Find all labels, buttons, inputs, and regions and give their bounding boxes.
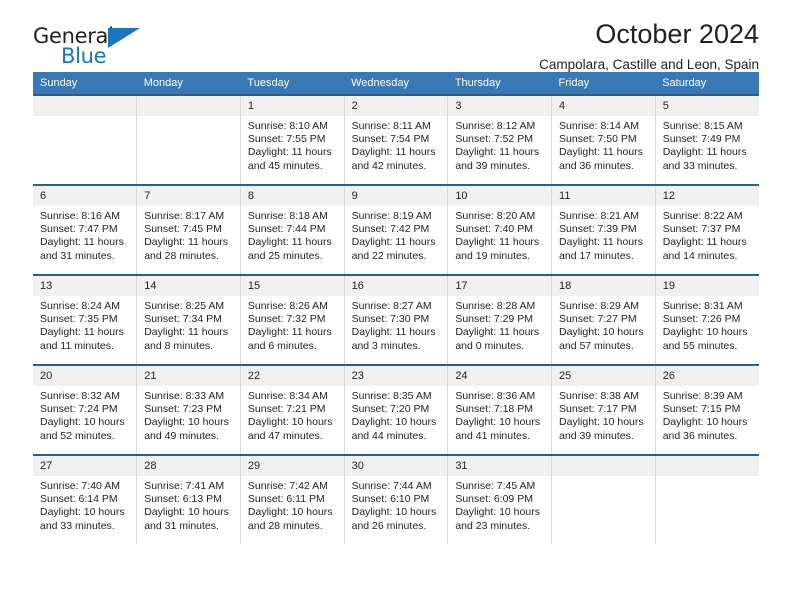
- calendar-week-row: 6Sunrise: 8:16 AMSunset: 7:47 PMDaylight…: [33, 185, 759, 275]
- day-number: 31: [448, 456, 551, 476]
- day-cell-inner: 4Sunrise: 8:14 AMSunset: 7:50 PMDaylight…: [552, 96, 655, 184]
- sunrise-time: Sunrise: 7:44 AM: [352, 480, 442, 493]
- sunset-time: Sunset: 7:40 PM: [455, 223, 545, 236]
- day-number: 9: [345, 186, 448, 206]
- calendar-day-cell[interactable]: 11Sunrise: 8:21 AMSunset: 7:39 PMDayligh…: [552, 185, 656, 275]
- sunset-time: Sunset: 7:50 PM: [559, 133, 649, 146]
- daylight-duration-line1: Daylight: 10 hours: [40, 506, 130, 519]
- sunset-time: Sunset: 6:10 PM: [352, 493, 442, 506]
- weekday-header-thursday: Thursday: [448, 72, 552, 95]
- day-cell-inner: 3Sunrise: 8:12 AMSunset: 7:52 PMDaylight…: [448, 96, 551, 184]
- sunset-time: Sunset: 7:37 PM: [663, 223, 753, 236]
- daylight-duration-line2: and 17 minutes.: [559, 250, 649, 263]
- day-cell-inner: 19Sunrise: 8:31 AMSunset: 7:26 PMDayligh…: [656, 276, 759, 364]
- daylight-duration-line2: and 25 minutes.: [248, 250, 338, 263]
- weekday-header-monday: Monday: [137, 72, 241, 95]
- day-cell-inner: 7Sunrise: 8:17 AMSunset: 7:45 PMDaylight…: [137, 186, 240, 274]
- daylight-duration-line2: and 39 minutes.: [455, 160, 545, 173]
- day-cell-inner: 31Sunrise: 7:45 AMSunset: 6:09 PMDayligh…: [448, 456, 551, 544]
- calendar-day-cell-empty: [552, 455, 656, 544]
- daylight-duration-line1: Daylight: 10 hours: [248, 506, 338, 519]
- day-number: 5: [656, 96, 759, 116]
- sunset-time: Sunset: 6:14 PM: [40, 493, 130, 506]
- daylight-duration-line2: and 47 minutes.: [248, 430, 338, 443]
- day-details: Sunrise: 8:22 AMSunset: 7:37 PMDaylight:…: [656, 206, 759, 263]
- daylight-duration-line2: and 8 minutes.: [144, 340, 234, 353]
- daylight-duration-line1: Daylight: 10 hours: [144, 416, 234, 429]
- day-details: Sunrise: 8:27 AMSunset: 7:30 PMDaylight:…: [345, 296, 448, 353]
- sunrise-time: Sunrise: 8:33 AM: [144, 390, 234, 403]
- calendar-day-cell[interactable]: 22Sunrise: 8:34 AMSunset: 7:21 PMDayligh…: [240, 365, 344, 455]
- day-details: Sunrise: 7:40 AMSunset: 6:14 PMDaylight:…: [33, 476, 136, 533]
- calendar-day-cell[interactable]: 19Sunrise: 8:31 AMSunset: 7:26 PMDayligh…: [655, 275, 759, 365]
- sunset-time: Sunset: 7:39 PM: [559, 223, 649, 236]
- day-number: 20: [33, 366, 136, 386]
- month-calendar: Sunday Monday Tuesday Wednesday Thursday…: [33, 72, 759, 544]
- day-cell-inner: 16Sunrise: 8:27 AMSunset: 7:30 PMDayligh…: [345, 276, 448, 364]
- day-number: 27: [33, 456, 136, 476]
- sunrise-time: Sunrise: 8:29 AM: [559, 300, 649, 313]
- sunset-time: Sunset: 7:45 PM: [144, 223, 234, 236]
- daylight-duration-line2: and 39 minutes.: [559, 430, 649, 443]
- daylight-duration-line1: Daylight: 10 hours: [663, 416, 753, 429]
- sunrise-time: Sunrise: 8:19 AM: [352, 210, 442, 223]
- day-details: Sunrise: 8:15 AMSunset: 7:49 PMDaylight:…: [656, 116, 759, 173]
- day-details: Sunrise: 8:31 AMSunset: 7:26 PMDaylight:…: [656, 296, 759, 353]
- day-details: Sunrise: 8:38 AMSunset: 7:17 PMDaylight:…: [552, 386, 655, 443]
- daylight-duration-line1: Daylight: 11 hours: [352, 326, 442, 339]
- daylight-duration-line2: and 57 minutes.: [559, 340, 649, 353]
- general-blue-logo: General Blue: [33, 24, 153, 70]
- day-number: 26: [656, 366, 759, 386]
- day-details: Sunrise: 8:10 AMSunset: 7:55 PMDaylight:…: [241, 116, 344, 173]
- day-cell-inner: 28Sunrise: 7:41 AMSunset: 6:13 PMDayligh…: [137, 456, 240, 544]
- daylight-duration-line1: Daylight: 10 hours: [144, 506, 234, 519]
- day-cell-inner: 13Sunrise: 8:24 AMSunset: 7:35 PMDayligh…: [33, 276, 136, 364]
- day-cell-inner: 10Sunrise: 8:20 AMSunset: 7:40 PMDayligh…: [448, 186, 551, 274]
- sunset-time: Sunset: 7:24 PM: [40, 403, 130, 416]
- weekday-header-tuesday: Tuesday: [240, 72, 344, 95]
- day-details: Sunrise: 8:12 AMSunset: 7:52 PMDaylight:…: [448, 116, 551, 173]
- calendar-day-cell[interactable]: 20Sunrise: 8:32 AMSunset: 7:24 PMDayligh…: [33, 365, 137, 455]
- page-header: General Blue October 2024 Campolara, Cas…: [33, 0, 759, 72]
- daylight-duration-line1: Daylight: 11 hours: [248, 146, 338, 159]
- daylight-duration-line1: Daylight: 11 hours: [40, 236, 130, 249]
- calendar-day-cell[interactable]: 15Sunrise: 8:26 AMSunset: 7:32 PMDayligh…: [240, 275, 344, 365]
- daylight-duration-line2: and 36 minutes.: [663, 430, 753, 443]
- daylight-duration-line2: and 31 minutes.: [144, 520, 234, 533]
- sunrise-time: Sunrise: 8:16 AM: [40, 210, 130, 223]
- sunrise-time: Sunrise: 8:24 AM: [40, 300, 130, 313]
- sunrise-time: Sunrise: 8:39 AM: [663, 390, 753, 403]
- sunrise-time: Sunrise: 7:40 AM: [40, 480, 130, 493]
- calendar-day-cell[interactable]: 5Sunrise: 8:15 AMSunset: 7:49 PMDaylight…: [655, 95, 759, 185]
- calendar-day-cell[interactable]: 6Sunrise: 8:16 AMSunset: 7:47 PMDaylight…: [33, 185, 137, 275]
- calendar-day-cell[interactable]: 26Sunrise: 8:39 AMSunset: 7:15 PMDayligh…: [655, 365, 759, 455]
- calendar-header-row: Sunday Monday Tuesday Wednesday Thursday…: [33, 72, 759, 95]
- day-details: Sunrise: 8:33 AMSunset: 7:23 PMDaylight:…: [137, 386, 240, 443]
- daylight-duration-line2: and 55 minutes.: [663, 340, 753, 353]
- daylight-duration-line1: Daylight: 11 hours: [455, 146, 545, 159]
- daylight-duration-line1: Daylight: 11 hours: [559, 146, 649, 159]
- day-details: Sunrise: 8:25 AMSunset: 7:34 PMDaylight:…: [137, 296, 240, 353]
- calendar-day-cell[interactable]: 16Sunrise: 8:27 AMSunset: 7:30 PMDayligh…: [344, 275, 448, 365]
- calendar-day-cell[interactable]: 2Sunrise: 8:11 AMSunset: 7:54 PMDaylight…: [344, 95, 448, 185]
- daylight-duration-line1: Daylight: 11 hours: [352, 146, 442, 159]
- day-cell-inner: 18Sunrise: 8:29 AMSunset: 7:27 PMDayligh…: [552, 276, 655, 364]
- daylight-duration-line1: Daylight: 10 hours: [352, 506, 442, 519]
- calendar-day-cell[interactable]: 12Sunrise: 8:22 AMSunset: 7:37 PMDayligh…: [655, 185, 759, 275]
- day-details: Sunrise: 7:45 AMSunset: 6:09 PMDaylight:…: [448, 476, 551, 533]
- title-block: October 2024 Campolara, Castille and Leo…: [539, 18, 759, 75]
- sunrise-time: Sunrise: 8:22 AM: [663, 210, 753, 223]
- sunset-time: Sunset: 7:29 PM: [455, 313, 545, 326]
- day-details: [656, 476, 759, 480]
- sunset-time: Sunset: 7:32 PM: [248, 313, 338, 326]
- sunset-time: Sunset: 7:27 PM: [559, 313, 649, 326]
- daylight-duration-line1: Daylight: 10 hours: [352, 416, 442, 429]
- weekday-header-wednesday: Wednesday: [344, 72, 448, 95]
- day-number: 4: [552, 96, 655, 116]
- day-details: Sunrise: 8:14 AMSunset: 7:50 PMDaylight:…: [552, 116, 655, 173]
- sunset-time: Sunset: 7:47 PM: [40, 223, 130, 236]
- sunset-time: Sunset: 7:42 PM: [352, 223, 442, 236]
- daylight-duration-line2: and 28 minutes.: [144, 250, 234, 263]
- daylight-duration-line2: and 42 minutes.: [352, 160, 442, 173]
- calendar-day-cell[interactable]: 25Sunrise: 8:38 AMSunset: 7:17 PMDayligh…: [552, 365, 656, 455]
- daylight-duration-line1: Daylight: 10 hours: [455, 416, 545, 429]
- day-number: 16: [345, 276, 448, 296]
- calendar-body: 1Sunrise: 8:10 AMSunset: 7:55 PMDaylight…: [33, 95, 759, 544]
- daylight-duration-line1: Daylight: 11 hours: [663, 146, 753, 159]
- sunrise-time: Sunrise: 8:20 AM: [455, 210, 545, 223]
- day-cell-inner: 5Sunrise: 8:15 AMSunset: 7:49 PMDaylight…: [656, 96, 759, 184]
- sunset-time: Sunset: 6:11 PM: [248, 493, 338, 506]
- day-cell-inner: 15Sunrise: 8:26 AMSunset: 7:32 PMDayligh…: [241, 276, 344, 364]
- daylight-duration-line2: and 45 minutes.: [248, 160, 338, 173]
- day-number: 13: [33, 276, 136, 296]
- sunrise-time: Sunrise: 8:21 AM: [559, 210, 649, 223]
- day-number: 22: [241, 366, 344, 386]
- daylight-duration-line1: Daylight: 11 hours: [455, 326, 545, 339]
- day-details: Sunrise: 7:42 AMSunset: 6:11 PMDaylight:…: [241, 476, 344, 533]
- daylight-duration-line1: Daylight: 11 hours: [663, 236, 753, 249]
- calendar-day-cell[interactable]: 23Sunrise: 8:35 AMSunset: 7:20 PMDayligh…: [344, 365, 448, 455]
- sunset-time: Sunset: 7:54 PM: [352, 133, 442, 146]
- day-cell-inner: 24Sunrise: 8:36 AMSunset: 7:18 PMDayligh…: [448, 366, 551, 454]
- sunrise-time: Sunrise: 8:28 AM: [455, 300, 545, 313]
- day-number: 6: [33, 186, 136, 206]
- day-cell-inner: [552, 456, 655, 544]
- logo-text-blue: Blue: [61, 44, 106, 68]
- day-number: [552, 456, 655, 476]
- calendar-day-cell[interactable]: 10Sunrise: 8:20 AMSunset: 7:40 PMDayligh…: [448, 185, 552, 275]
- day-number: 19: [656, 276, 759, 296]
- daylight-duration-line2: and 41 minutes.: [455, 430, 545, 443]
- day-number: 7: [137, 186, 240, 206]
- daylight-duration-line2: and 33 minutes.: [663, 160, 753, 173]
- calendar-day-cell-empty: [33, 95, 137, 185]
- sunrise-time: Sunrise: 8:32 AM: [40, 390, 130, 403]
- calendar-day-cell[interactable]: 21Sunrise: 8:33 AMSunset: 7:23 PMDayligh…: [137, 365, 241, 455]
- weekday-header-sunday: Sunday: [33, 72, 137, 95]
- page-title: October 2024: [539, 18, 759, 50]
- day-number: 18: [552, 276, 655, 296]
- calendar-day-cell[interactable]: 31Sunrise: 7:45 AMSunset: 6:09 PMDayligh…: [448, 455, 552, 544]
- day-details: Sunrise: 8:18 AMSunset: 7:44 PMDaylight:…: [241, 206, 344, 263]
- sunrise-time: Sunrise: 8:34 AM: [248, 390, 338, 403]
- daylight-duration-line2: and 28 minutes.: [248, 520, 338, 533]
- day-details: [137, 116, 240, 120]
- daylight-duration-line2: and 23 minutes.: [455, 520, 545, 533]
- calendar-week-row: 27Sunrise: 7:40 AMSunset: 6:14 PMDayligh…: [33, 455, 759, 544]
- daylight-duration-line2: and 33 minutes.: [40, 520, 130, 533]
- calendar-week-row: 13Sunrise: 8:24 AMSunset: 7:35 PMDayligh…: [33, 275, 759, 365]
- day-number: 24: [448, 366, 551, 386]
- day-number: 10: [448, 186, 551, 206]
- day-details: Sunrise: 7:41 AMSunset: 6:13 PMDaylight:…: [137, 476, 240, 533]
- day-details: Sunrise: 8:28 AMSunset: 7:29 PMDaylight:…: [448, 296, 551, 353]
- calendar-day-cell-empty: [655, 455, 759, 544]
- day-cell-inner: 30Sunrise: 7:44 AMSunset: 6:10 PMDayligh…: [345, 456, 448, 544]
- day-cell-inner: 6Sunrise: 8:16 AMSunset: 7:47 PMDaylight…: [33, 186, 136, 274]
- sunrise-time: Sunrise: 8:18 AM: [248, 210, 338, 223]
- calendar-day-cell[interactable]: 8Sunrise: 8:18 AMSunset: 7:44 PMDaylight…: [240, 185, 344, 275]
- sunset-time: Sunset: 7:30 PM: [352, 313, 442, 326]
- daylight-duration-line1: Daylight: 11 hours: [40, 326, 130, 339]
- sunset-time: Sunset: 7:23 PM: [144, 403, 234, 416]
- sunrise-time: Sunrise: 8:14 AM: [559, 120, 649, 133]
- day-number: 29: [241, 456, 344, 476]
- day-cell-inner: 11Sunrise: 8:21 AMSunset: 7:39 PMDayligh…: [552, 186, 655, 274]
- sunset-time: Sunset: 7:20 PM: [352, 403, 442, 416]
- sunrise-time: Sunrise: 8:12 AM: [455, 120, 545, 133]
- calendar-day-cell[interactable]: 9Sunrise: 8:19 AMSunset: 7:42 PMDaylight…: [344, 185, 448, 275]
- daylight-duration-line1: Daylight: 10 hours: [40, 416, 130, 429]
- calendar-day-cell[interactable]: 7Sunrise: 8:17 AMSunset: 7:45 PMDaylight…: [137, 185, 241, 275]
- day-details: Sunrise: 8:17 AMSunset: 7:45 PMDaylight:…: [137, 206, 240, 263]
- day-details: Sunrise: 8:34 AMSunset: 7:21 PMDaylight:…: [241, 386, 344, 443]
- sunrise-time: Sunrise: 7:41 AM: [144, 480, 234, 493]
- daylight-duration-line1: Daylight: 11 hours: [559, 236, 649, 249]
- day-number: 17: [448, 276, 551, 296]
- sunrise-time: Sunrise: 8:10 AM: [248, 120, 338, 133]
- sunrise-time: Sunrise: 8:38 AM: [559, 390, 649, 403]
- daylight-duration-line2: and 11 minutes.: [40, 340, 130, 353]
- calendar-day-cell[interactable]: 1Sunrise: 8:10 AMSunset: 7:55 PMDaylight…: [240, 95, 344, 185]
- daylight-duration-line1: Daylight: 10 hours: [559, 416, 649, 429]
- sunset-time: Sunset: 7:26 PM: [663, 313, 753, 326]
- calendar-day-cell[interactable]: 30Sunrise: 7:44 AMSunset: 6:10 PMDayligh…: [344, 455, 448, 544]
- day-number: [33, 96, 136, 116]
- day-details: Sunrise: 8:35 AMSunset: 7:20 PMDaylight:…: [345, 386, 448, 443]
- day-details: Sunrise: 8:32 AMSunset: 7:24 PMDaylight:…: [33, 386, 136, 443]
- sunset-time: Sunset: 7:49 PM: [663, 133, 753, 146]
- day-number: 14: [137, 276, 240, 296]
- sunset-time: Sunset: 7:52 PM: [455, 133, 545, 146]
- sunset-time: Sunset: 7:17 PM: [559, 403, 649, 416]
- daylight-duration-line1: Daylight: 11 hours: [144, 326, 234, 339]
- daylight-duration-line1: Daylight: 11 hours: [352, 236, 442, 249]
- sunset-time: Sunset: 6:13 PM: [144, 493, 234, 506]
- weekday-header-friday: Friday: [552, 72, 656, 95]
- day-details: [552, 476, 655, 480]
- calendar-day-cell[interactable]: 27Sunrise: 7:40 AMSunset: 6:14 PMDayligh…: [33, 455, 137, 544]
- calendar-day-cell[interactable]: 28Sunrise: 7:41 AMSunset: 6:13 PMDayligh…: [137, 455, 241, 544]
- sunset-time: Sunset: 7:55 PM: [248, 133, 338, 146]
- calendar-week-row: 1Sunrise: 8:10 AMSunset: 7:55 PMDaylight…: [33, 95, 759, 185]
- calendar-week-row: 20Sunrise: 8:32 AMSunset: 7:24 PMDayligh…: [33, 365, 759, 455]
- day-cell-inner: 27Sunrise: 7:40 AMSunset: 6:14 PMDayligh…: [33, 456, 136, 544]
- day-cell-inner: 22Sunrise: 8:34 AMSunset: 7:21 PMDayligh…: [241, 366, 344, 454]
- day-number: 15: [241, 276, 344, 296]
- sunset-time: Sunset: 7:35 PM: [40, 313, 130, 326]
- daylight-duration-line2: and 3 minutes.: [352, 340, 442, 353]
- daylight-duration-line2: and 31 minutes.: [40, 250, 130, 263]
- calendar-day-cell[interactable]: 18Sunrise: 8:29 AMSunset: 7:27 PMDayligh…: [552, 275, 656, 365]
- day-details: Sunrise: 8:11 AMSunset: 7:54 PMDaylight:…: [345, 116, 448, 173]
- daylight-duration-line1: Daylight: 11 hours: [248, 236, 338, 249]
- sunset-time: Sunset: 7:34 PM: [144, 313, 234, 326]
- calendar-day-cell[interactable]: 4Sunrise: 8:14 AMSunset: 7:50 PMDaylight…: [552, 95, 656, 185]
- daylight-duration-line1: Daylight: 10 hours: [663, 326, 753, 339]
- day-number: 28: [137, 456, 240, 476]
- daylight-duration-line1: Daylight: 10 hours: [455, 506, 545, 519]
- day-cell-inner: 26Sunrise: 8:39 AMSunset: 7:15 PMDayligh…: [656, 366, 759, 454]
- day-details: Sunrise: 7:44 AMSunset: 6:10 PMDaylight:…: [345, 476, 448, 533]
- daylight-duration-line2: and 49 minutes.: [144, 430, 234, 443]
- day-details: Sunrise: 8:21 AMSunset: 7:39 PMDaylight:…: [552, 206, 655, 263]
- day-details: Sunrise: 8:24 AMSunset: 7:35 PMDaylight:…: [33, 296, 136, 353]
- sunrise-time: Sunrise: 8:31 AM: [663, 300, 753, 313]
- sunset-time: Sunset: 7:15 PM: [663, 403, 753, 416]
- daylight-duration-line2: and 26 minutes.: [352, 520, 442, 533]
- calendar-day-cell[interactable]: 17Sunrise: 8:28 AMSunset: 7:29 PMDayligh…: [448, 275, 552, 365]
- weekday-header-saturday: Saturday: [655, 72, 759, 95]
- sunset-time: Sunset: 7:44 PM: [248, 223, 338, 236]
- day-number: 21: [137, 366, 240, 386]
- day-cell-inner: 25Sunrise: 8:38 AMSunset: 7:17 PMDayligh…: [552, 366, 655, 454]
- daylight-duration-line1: Daylight: 10 hours: [248, 416, 338, 429]
- logo-triangle-icon: [108, 28, 140, 48]
- day-cell-inner: 9Sunrise: 8:19 AMSunset: 7:42 PMDaylight…: [345, 186, 448, 274]
- day-number: 25: [552, 366, 655, 386]
- sunrise-time: Sunrise: 8:17 AM: [144, 210, 234, 223]
- sunset-time: Sunset: 7:21 PM: [248, 403, 338, 416]
- daylight-duration-line1: Daylight: 11 hours: [144, 236, 234, 249]
- day-cell-inner: 1Sunrise: 8:10 AMSunset: 7:55 PMDaylight…: [241, 96, 344, 184]
- daylight-duration-line2: and 44 minutes.: [352, 430, 442, 443]
- calendar-day-cell[interactable]: 24Sunrise: 8:36 AMSunset: 7:18 PMDayligh…: [448, 365, 552, 455]
- daylight-duration-line2: and 52 minutes.: [40, 430, 130, 443]
- day-number: 8: [241, 186, 344, 206]
- day-number: 30: [345, 456, 448, 476]
- day-number: [137, 96, 240, 116]
- day-cell-inner: 8Sunrise: 8:18 AMSunset: 7:44 PMDaylight…: [241, 186, 344, 274]
- sunset-time: Sunset: 6:09 PM: [455, 493, 545, 506]
- daylight-duration-line2: and 14 minutes.: [663, 250, 753, 263]
- day-details: Sunrise: 8:20 AMSunset: 7:40 PMDaylight:…: [448, 206, 551, 263]
- day-details: Sunrise: 8:39 AMSunset: 7:15 PMDaylight:…: [656, 386, 759, 443]
- day-cell-inner: [656, 456, 759, 544]
- day-number: 23: [345, 366, 448, 386]
- day-cell-inner: 23Sunrise: 8:35 AMSunset: 7:20 PMDayligh…: [345, 366, 448, 454]
- daylight-duration-line2: and 19 minutes.: [455, 250, 545, 263]
- day-number: 3: [448, 96, 551, 116]
- sunrise-time: Sunrise: 8:35 AM: [352, 390, 442, 403]
- calendar-day-cell[interactable]: 3Sunrise: 8:12 AMSunset: 7:52 PMDaylight…: [448, 95, 552, 185]
- daylight-duration-line2: and 22 minutes.: [352, 250, 442, 263]
- sunrise-time: Sunrise: 8:27 AM: [352, 300, 442, 313]
- sunrise-time: Sunrise: 7:42 AM: [248, 480, 338, 493]
- sunrise-time: Sunrise: 8:11 AM: [352, 120, 442, 133]
- sunrise-time: Sunrise: 8:36 AM: [455, 390, 545, 403]
- sunset-time: Sunset: 7:18 PM: [455, 403, 545, 416]
- sunrise-time: Sunrise: 7:45 AM: [455, 480, 545, 493]
- day-details: Sunrise: 8:29 AMSunset: 7:27 PMDaylight:…: [552, 296, 655, 353]
- day-number: 11: [552, 186, 655, 206]
- daylight-duration-line2: and 6 minutes.: [248, 340, 338, 353]
- day-number: 2: [345, 96, 448, 116]
- day-cell-inner: 17Sunrise: 8:28 AMSunset: 7:29 PMDayligh…: [448, 276, 551, 364]
- calendar-day-cell[interactable]: 14Sunrise: 8:25 AMSunset: 7:34 PMDayligh…: [137, 275, 241, 365]
- sunrise-time: Sunrise: 8:15 AM: [663, 120, 753, 133]
- calendar-day-cell[interactable]: 29Sunrise: 7:42 AMSunset: 6:11 PMDayligh…: [240, 455, 344, 544]
- sunrise-time: Sunrise: 8:25 AM: [144, 300, 234, 313]
- day-details: Sunrise: 8:16 AMSunset: 7:47 PMDaylight:…: [33, 206, 136, 263]
- day-number: [656, 456, 759, 476]
- day-cell-inner: 20Sunrise: 8:32 AMSunset: 7:24 PMDayligh…: [33, 366, 136, 454]
- day-details: Sunrise: 8:26 AMSunset: 7:32 PMDaylight:…: [241, 296, 344, 353]
- daylight-duration-line2: and 36 minutes.: [559, 160, 649, 173]
- day-details: [33, 116, 136, 120]
- day-details: Sunrise: 8:36 AMSunset: 7:18 PMDaylight:…: [448, 386, 551, 443]
- day-cell-inner: 14Sunrise: 8:25 AMSunset: 7:34 PMDayligh…: [137, 276, 240, 364]
- day-cell-inner: [137, 96, 240, 184]
- day-cell-inner: 12Sunrise: 8:22 AMSunset: 7:37 PMDayligh…: [656, 186, 759, 274]
- calendar-page: General Blue October 2024 Campolara, Cas…: [0, 0, 792, 612]
- sunrise-time: Sunrise: 8:26 AM: [248, 300, 338, 313]
- day-number: 12: [656, 186, 759, 206]
- day-cell-inner: [33, 96, 136, 184]
- daylight-duration-line1: Daylight: 10 hours: [559, 326, 649, 339]
- daylight-duration-line1: Daylight: 11 hours: [248, 326, 338, 339]
- daylight-duration-line2: and 0 minutes.: [455, 340, 545, 353]
- day-number: 1: [241, 96, 344, 116]
- day-cell-inner: 29Sunrise: 7:42 AMSunset: 6:11 PMDayligh…: [241, 456, 344, 544]
- page-subtitle: Campolara, Castille and Leon, Spain: [539, 55, 759, 75]
- day-details: Sunrise: 8:19 AMSunset: 7:42 PMDaylight:…: [345, 206, 448, 263]
- day-cell-inner: 21Sunrise: 8:33 AMSunset: 7:23 PMDayligh…: [137, 366, 240, 454]
- daylight-duration-line1: Daylight: 11 hours: [455, 236, 545, 249]
- calendar-day-cell-empty: [137, 95, 241, 185]
- day-cell-inner: 2Sunrise: 8:11 AMSunset: 7:54 PMDaylight…: [345, 96, 448, 184]
- calendar-day-cell[interactable]: 13Sunrise: 8:24 AMSunset: 7:35 PMDayligh…: [33, 275, 137, 365]
